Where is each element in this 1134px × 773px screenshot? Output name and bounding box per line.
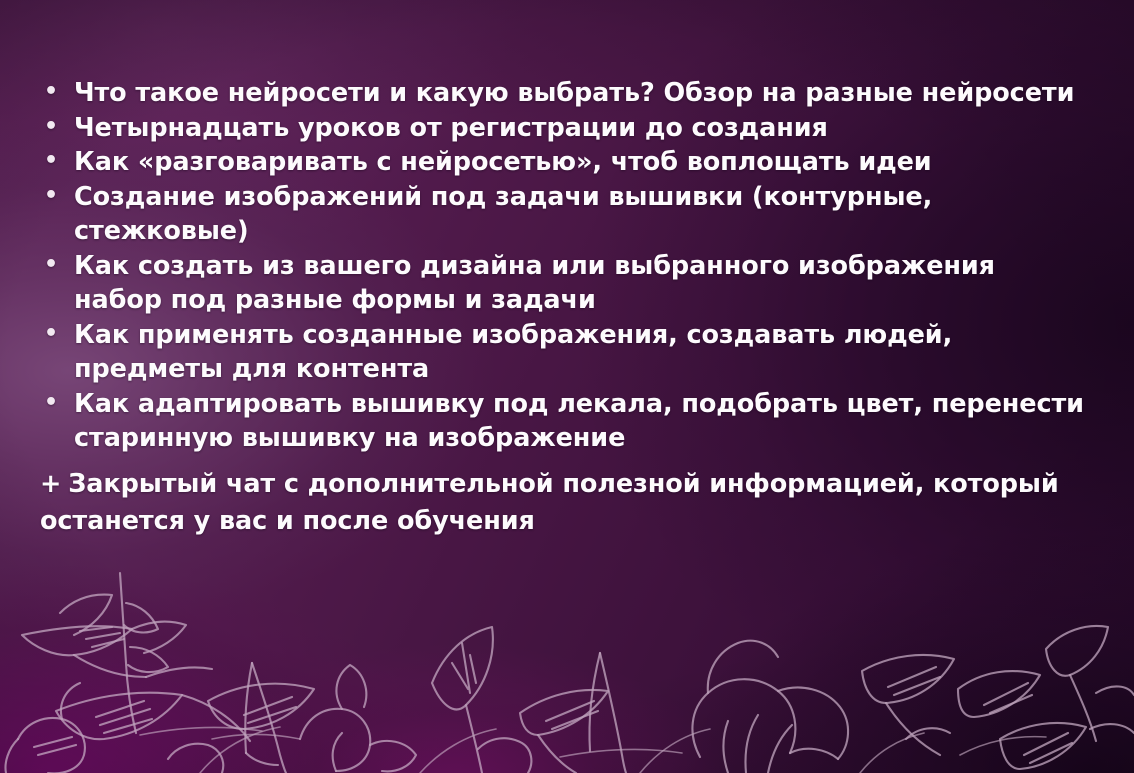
list-item: Как создать из вашего дизайна или выбран… xyxy=(40,249,1090,318)
plus-marker: + xyxy=(40,469,61,499)
list-item: Как применять созданные изображения, соз… xyxy=(40,318,1090,387)
slide-canvas: Что такое нейросети и какую выбрать? Обз… xyxy=(0,0,1134,773)
list-item: Создание изображений под задачи вышивки … xyxy=(40,180,1090,249)
list-item: Как адаптировать вышивку под лекала, под… xyxy=(40,387,1090,456)
list-item: Четырнадцать уроков от регистрации до со… xyxy=(40,111,1090,146)
floral-decoration-icon xyxy=(0,543,1134,773)
footnote-block: +Закрытый чат с дополнительной полезной … xyxy=(40,466,1092,540)
list-item: Как «разговаривать с нейросетью», чтоб в… xyxy=(40,145,1090,180)
footnote-text: Закрытый чат с дополнительной полезной и… xyxy=(40,469,1059,536)
bullet-list: Что такое нейросети и какую выбрать? Обз… xyxy=(40,76,1090,456)
list-item: Что такое нейросети и какую выбрать? Обз… xyxy=(40,76,1090,111)
